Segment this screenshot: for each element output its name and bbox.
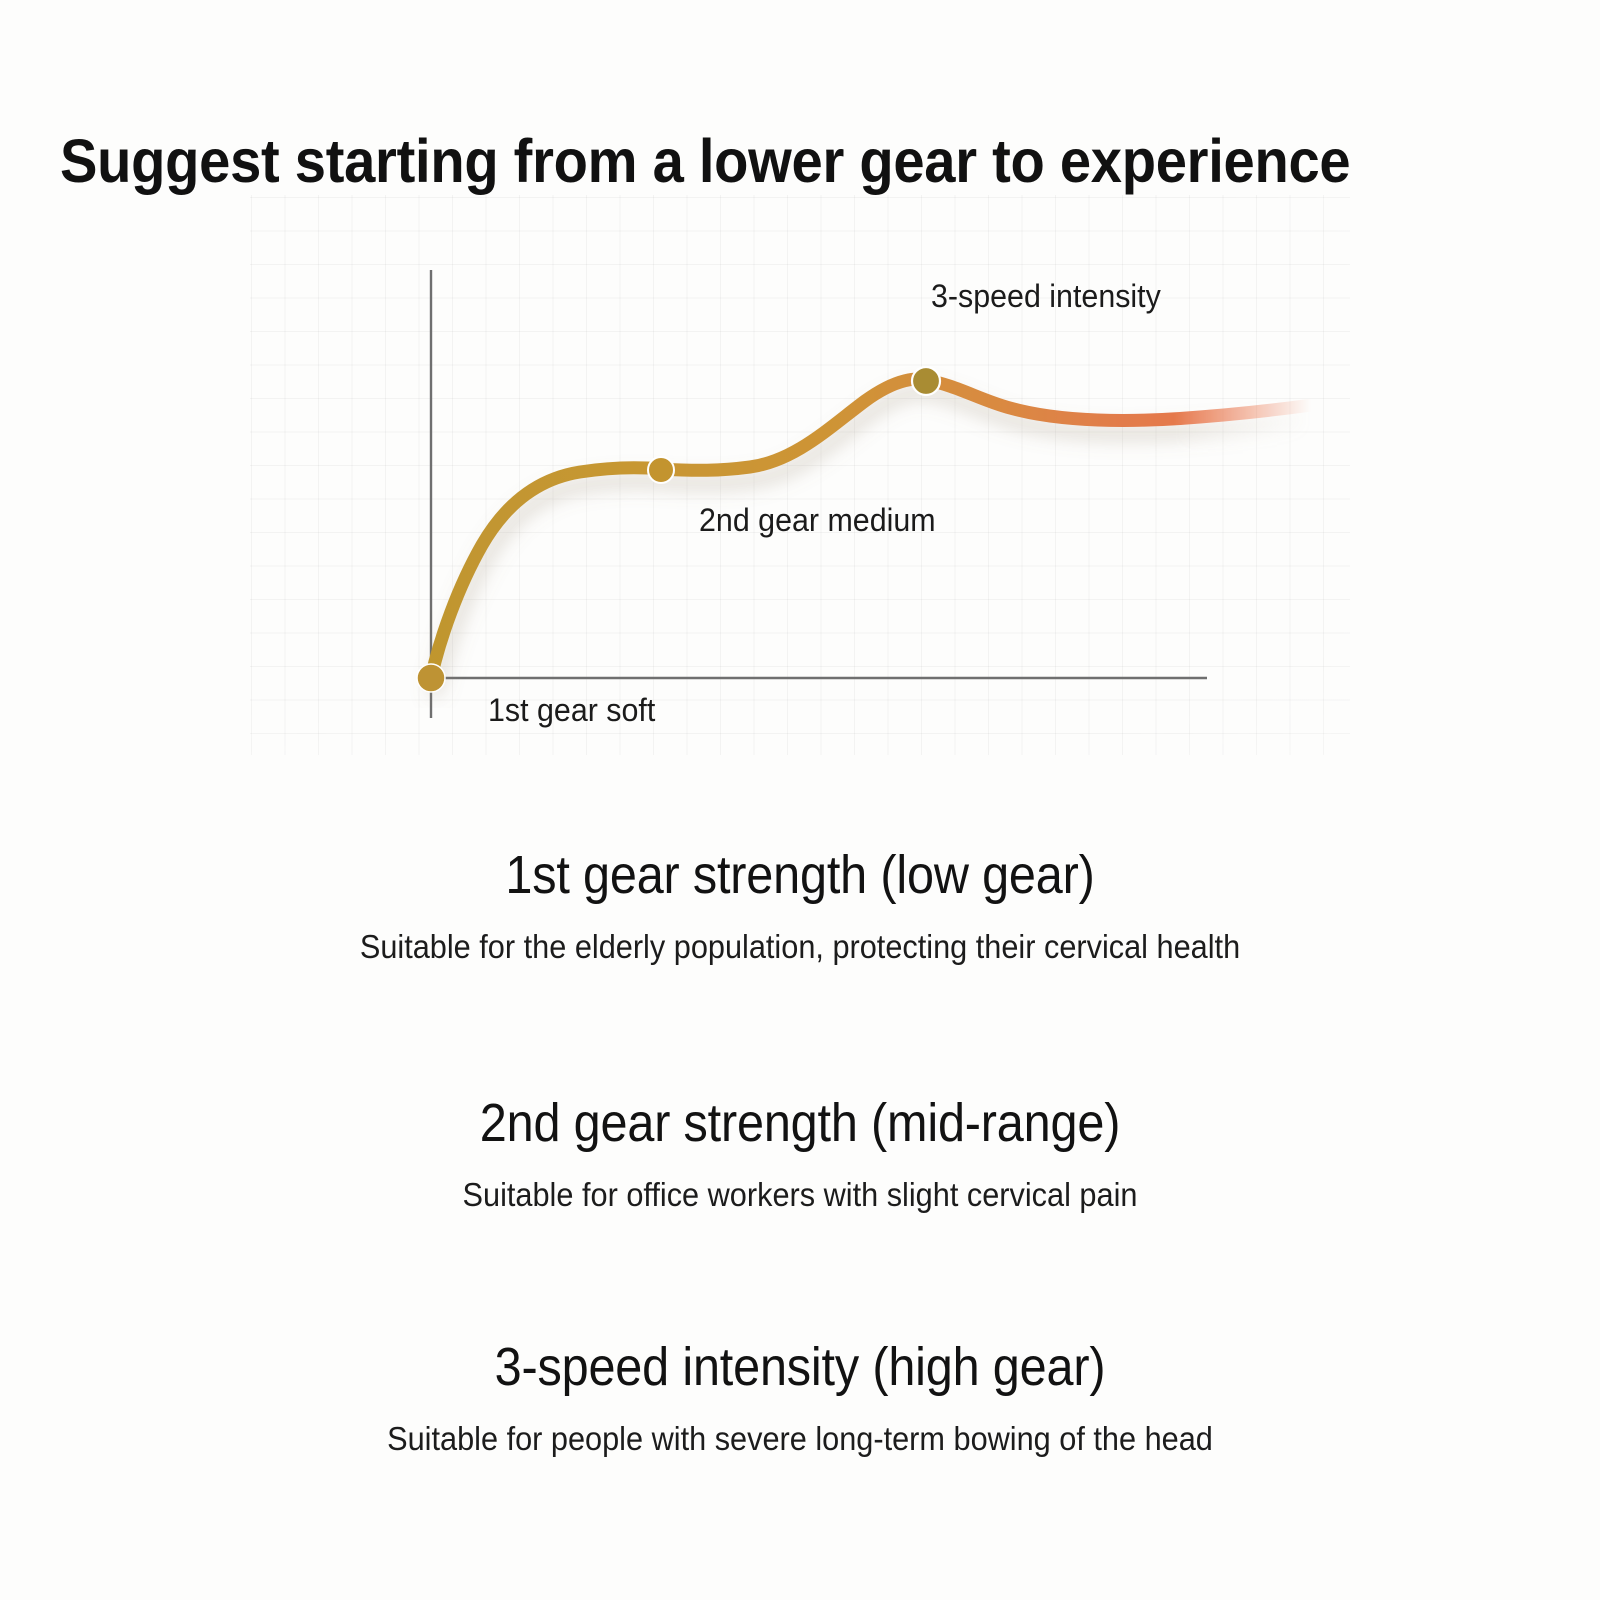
intensity-curve-chart: 3-speed intensity 2nd gear medium 1st ge… bbox=[250, 195, 1350, 775]
chart-axes bbox=[431, 270, 1207, 718]
gear-section-3-subtitle: Suitable for people with severe long-ter… bbox=[56, 1419, 1544, 1459]
gear-section-2: 2nd gear strength (mid-range) Suitable f… bbox=[0, 1093, 1600, 1215]
data-point-gear2[interactable] bbox=[648, 457, 674, 483]
gear-section-2-subtitle: Suitable for office workers with slight … bbox=[56, 1175, 1544, 1215]
chart-label-gear3: 3-speed intensity bbox=[931, 278, 1161, 315]
gear-section-2-heading: 2nd gear strength (mid-range) bbox=[80, 1093, 1520, 1153]
data-point-gear3[interactable] bbox=[912, 367, 940, 395]
chart-label-gear1: 1st gear soft bbox=[488, 692, 655, 729]
gear-section-1-subtitle: Suitable for the elderly population, pro… bbox=[56, 927, 1544, 967]
gear-section-3-heading: 3-speed intensity (high gear) bbox=[80, 1337, 1520, 1397]
gear-section-1: 1st gear strength (low gear) Suitable fo… bbox=[0, 845, 1600, 967]
chart-label-gear2: 2nd gear medium bbox=[699, 502, 936, 539]
infographic-page: Suggest starting from a lower gear to ex… bbox=[0, 0, 1600, 1600]
data-point-gear1[interactable] bbox=[417, 664, 445, 692]
gear-section-3: 3-speed intensity (high gear) Suitable f… bbox=[0, 1337, 1600, 1459]
chart-canvas bbox=[250, 195, 1350, 775]
gear-section-1-heading: 1st gear strength (low gear) bbox=[80, 845, 1520, 905]
page-title: Suggest starting from a lower gear to ex… bbox=[60, 129, 1422, 193]
